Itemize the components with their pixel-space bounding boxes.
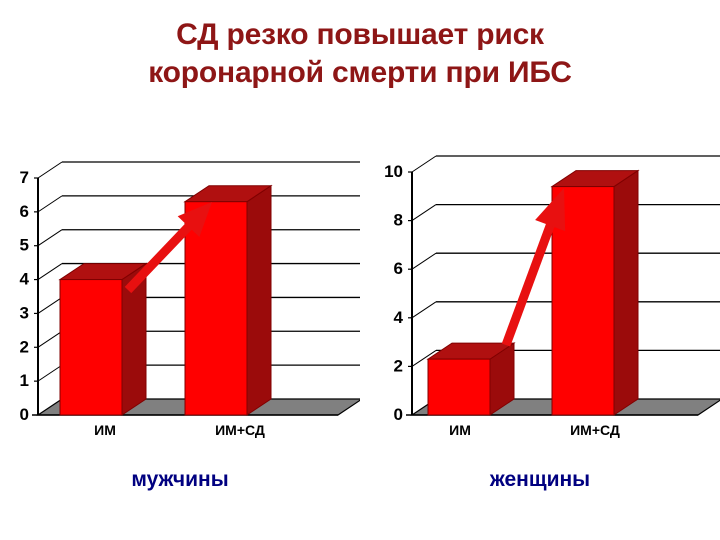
gridline-connector — [38, 230, 62, 246]
trend-arrow-head — [535, 188, 565, 231]
gridline-connector — [38, 162, 62, 178]
category-labels-men: ИМ ИМ+СД — [0, 422, 360, 448]
group-caption-men: мужчины — [0, 468, 360, 492]
cat-label-women-0: ИМ — [405, 422, 515, 438]
gridline-connector — [38, 264, 62, 280]
gridline-connector — [412, 156, 436, 172]
y-tick-label: 4 — [20, 270, 30, 289]
y-tick-label: 6 — [394, 259, 403, 278]
gridline-connector — [38, 196, 62, 212]
y-tick-label: 8 — [394, 211, 403, 230]
y-tick-label: 6 — [20, 202, 29, 221]
y-tick-label: 4 — [394, 308, 404, 327]
bar-front-face — [185, 202, 247, 415]
bar-women-1 — [552, 171, 638, 415]
title-line-2: коронарной смерти при ИБС — [0, 54, 720, 92]
bar-women-0 — [428, 343, 514, 415]
gridline-connector — [412, 302, 436, 318]
cat-label-women-1: ИМ+СД — [530, 422, 660, 438]
title-line-1: СД резко повышает риск — [0, 16, 720, 54]
bar-front-face — [428, 359, 490, 415]
group-caption-women: женщины — [360, 468, 720, 492]
y-tick-label: 5 — [20, 236, 29, 255]
gridline-connector — [38, 331, 62, 347]
chart-panel-women: 0246810 ИМ ИМ+СД женщины — [360, 150, 720, 540]
cat-label-men-1: ИМ+СД — [175, 422, 305, 438]
bar-front-face — [60, 280, 122, 415]
bar-side-face — [247, 186, 271, 415]
y-tick-label: 10 — [384, 162, 403, 181]
bar-chart-women: 0246810 — [360, 150, 720, 440]
gridline-connector — [412, 205, 436, 221]
cat-label-men-0: ИМ — [50, 422, 160, 438]
trend-arrow-shaft — [506, 212, 555, 345]
bar-chart-men: 01234567 — [0, 150, 360, 440]
page-title: СД резко повышает риск коронарной смерти… — [0, 16, 720, 92]
y-tick-label: 2 — [20, 337, 29, 356]
chart-panel-men: 01234567 ИМ ИМ+СД мужчины — [0, 150, 360, 540]
gridline-connector — [38, 365, 62, 381]
gridline-connector — [412, 253, 436, 269]
y-tick-label: 2 — [394, 356, 403, 375]
y-tick-label: 3 — [20, 303, 29, 322]
category-labels-women: ИМ ИМ+СД — [360, 422, 720, 448]
bar-side-face — [614, 171, 638, 415]
y-tick-label: 7 — [20, 168, 29, 187]
gridline-connector — [38, 297, 62, 313]
y-tick-label: 1 — [20, 371, 29, 390]
